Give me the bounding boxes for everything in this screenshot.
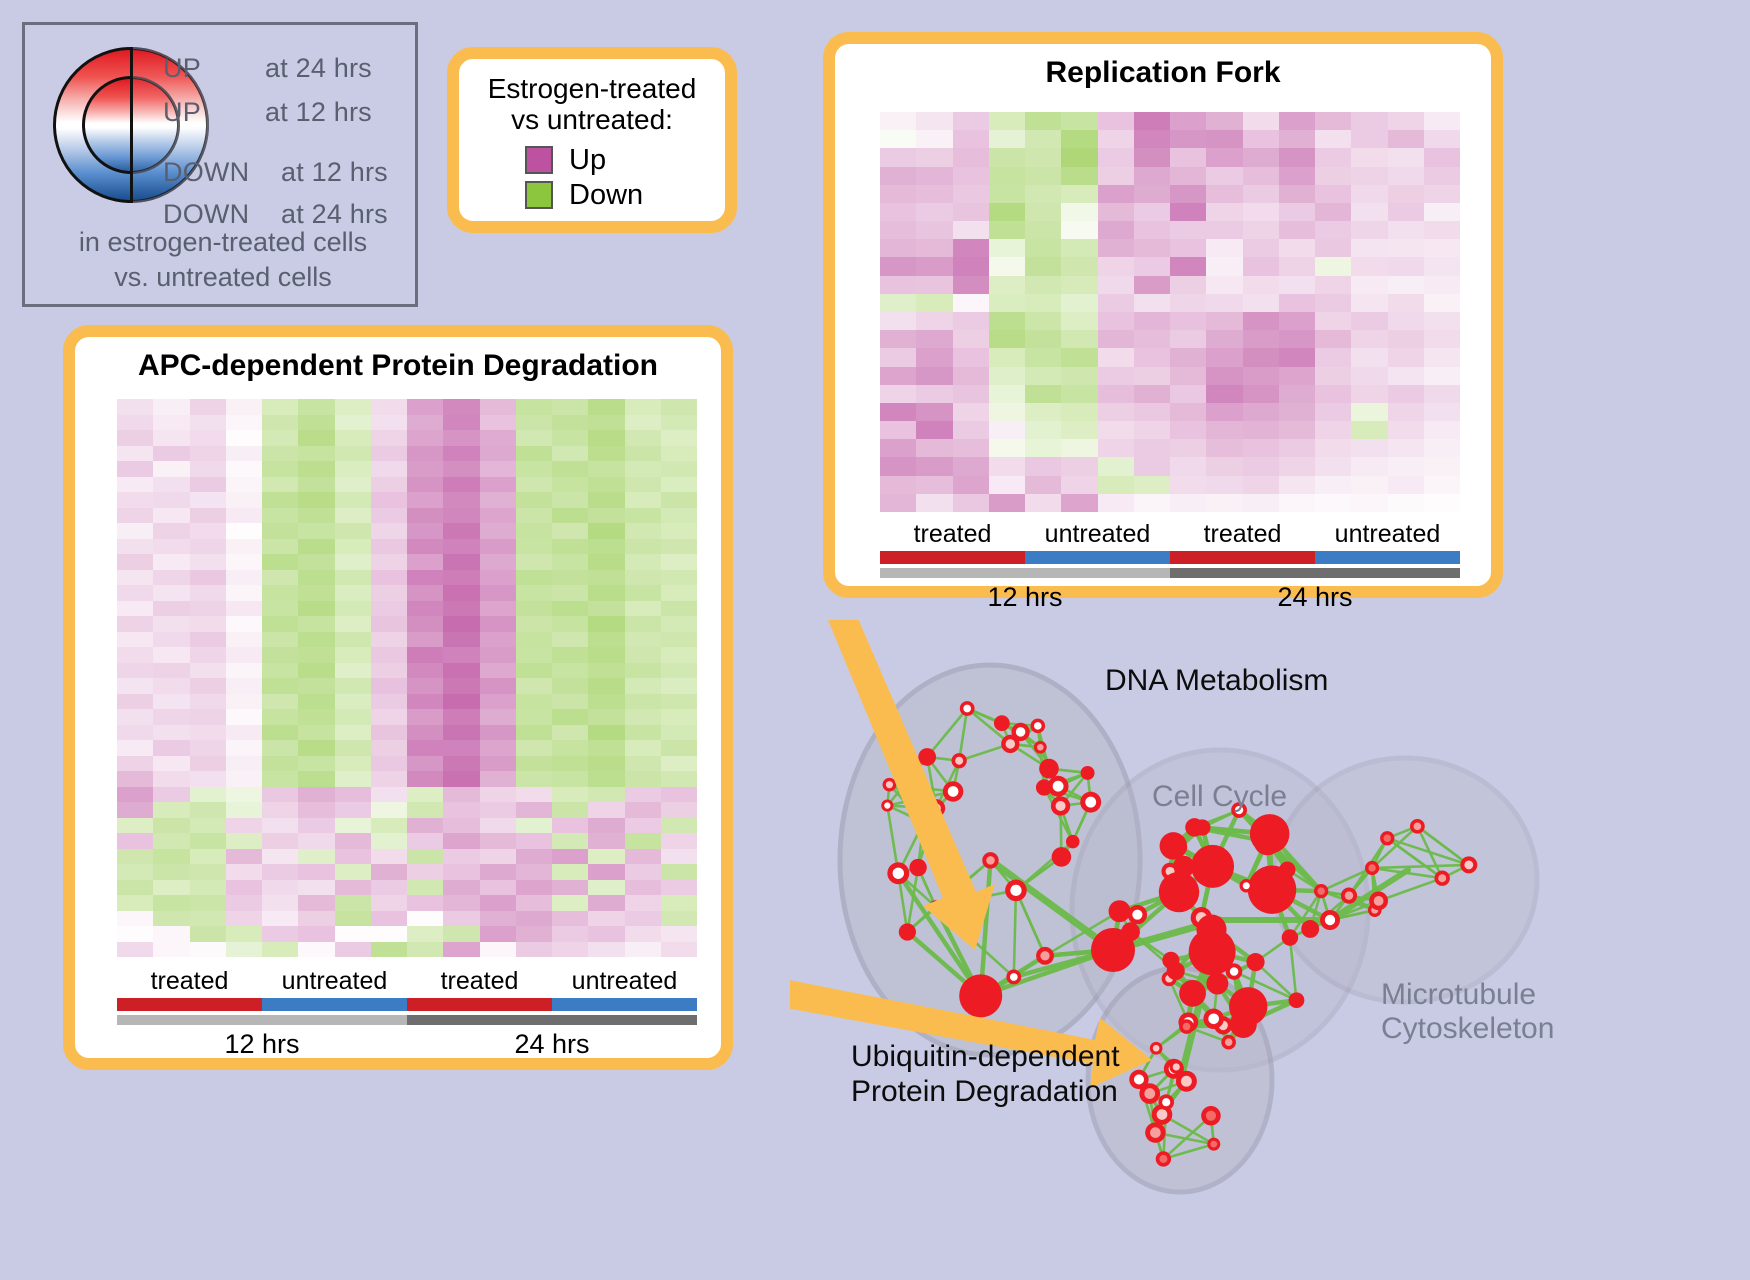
legend-items: Up Down: [459, 144, 725, 212]
network-node[interactable]: [994, 715, 1010, 731]
apc-condition-bar: [117, 998, 697, 1011]
condition-label: treated: [1170, 520, 1315, 549]
network-node[interactable]: [881, 799, 893, 811]
condition-label: treated: [880, 520, 1025, 549]
network-node[interactable]: [1254, 828, 1282, 856]
network-node[interactable]: [1314, 884, 1328, 898]
color-key-footer: in estrogen-treated cells vs. untreated …: [25, 225, 421, 294]
up-swatch-icon: [525, 146, 553, 174]
condition-bar-treated: [1170, 551, 1315, 564]
network-node[interactable]: [1150, 1042, 1163, 1055]
network-node[interactable]: [1246, 953, 1264, 971]
replication-fork-conditions: treated untreated treated untreated: [880, 520, 1460, 549]
network-node[interactable]: [1156, 1151, 1171, 1166]
legend-item-up: Up: [525, 144, 725, 177]
cluster-label-dna-metabolism: DNA Metabolism: [1105, 664, 1328, 698]
replication-fork-panel: Replication Fork treated untreated treat…: [823, 32, 1503, 598]
legend-title-line1: Estrogen-treated: [459, 73, 725, 104]
network-node[interactable]: [1048, 776, 1069, 797]
timepoint-label: 24 hrs: [1170, 582, 1460, 613]
legend-panel: Estrogen-treated vs untreated: Up Down: [447, 47, 737, 233]
network-node[interactable]: [1005, 880, 1027, 902]
legend-title-line2: vs untreated:: [459, 104, 725, 135]
network-node[interactable]: [1189, 928, 1236, 975]
condition-bar-untreated: [262, 998, 407, 1011]
condition-bar-untreated: [552, 998, 697, 1011]
condition-label: untreated: [552, 967, 697, 996]
network-node[interactable]: [1380, 831, 1394, 845]
network-node[interactable]: [1167, 962, 1185, 980]
network-node[interactable]: [1221, 1035, 1236, 1050]
network-node[interactable]: [1034, 741, 1047, 754]
cluster-label-cell-cycle: Cell Cycle: [1152, 780, 1287, 814]
apc-timepoints: 12 hrs 24 hrs: [117, 1029, 697, 1060]
network-node[interactable]: [1365, 861, 1379, 875]
cluster-label-ubiquitin-protein-degradation: Ubiquitin-dependent Protein Degradation: [851, 1040, 1120, 1110]
key-time-up-12: at 12 hrs: [265, 97, 372, 128]
network-node[interactable]: [1160, 832, 1188, 860]
network-node[interactable]: [1282, 929, 1299, 946]
network-node[interactable]: [1341, 888, 1357, 904]
network-node[interactable]: [1091, 928, 1135, 972]
network-node[interactable]: [1239, 879, 1253, 893]
legend-title: Estrogen-treated vs untreated:: [459, 59, 725, 136]
apc-heatmap: [117, 399, 697, 957]
timepoint-bar-24hrs: [407, 1015, 697, 1025]
apc-panel: APC-dependent Protein Degradation treate…: [63, 325, 733, 1070]
replication-fork-axis: treated untreated treated untreated 12 h…: [880, 520, 1460, 613]
key-label-down-12: DOWN: [163, 157, 249, 188]
network-node[interactable]: [1201, 1106, 1221, 1126]
network-node[interactable]: [1036, 947, 1054, 965]
network-node[interactable]: [1301, 920, 1319, 938]
cluster-label-microtubule-line1: Microtubule: [1381, 978, 1554, 1012]
network-node[interactable]: [1460, 856, 1477, 873]
timepoint-bar-24hrs: [1170, 568, 1460, 578]
apc-title: APC-dependent Protein Degradation: [75, 337, 721, 383]
network-node[interactable]: [1289, 992, 1305, 1008]
network-node[interactable]: [1006, 970, 1021, 985]
network-node[interactable]: [1039, 759, 1059, 779]
network-node[interactable]: [1410, 819, 1425, 834]
network-node[interactable]: [960, 701, 975, 716]
network-node[interactable]: [1176, 1071, 1197, 1092]
key-label-up-24: UP: [163, 53, 201, 84]
legend-item-up-label: Up: [569, 144, 606, 177]
key-label-up-12: UP: [163, 97, 201, 128]
network-node[interactable]: [943, 781, 964, 802]
color-key-footer-line1: in estrogen-treated cells: [25, 225, 421, 260]
network-node[interactable]: [899, 923, 916, 940]
key-time-down-12: at 12 hrs: [281, 157, 388, 188]
cluster-label-microtubule-line2: Cytoskeleton: [1381, 1012, 1554, 1046]
network-node[interactable]: [1230, 1011, 1257, 1038]
condition-bar-untreated: [1025, 551, 1170, 564]
network-node[interactable]: [1320, 910, 1340, 930]
condition-bar-treated: [407, 998, 552, 1011]
condition-label: treated: [407, 967, 552, 996]
key-time-up-24: at 24 hrs: [265, 53, 372, 84]
condition-bar-untreated: [1315, 551, 1460, 564]
apc-timepoint-bar: [117, 1015, 697, 1025]
network-node[interactable]: [1128, 905, 1147, 924]
apc-conditions: treated untreated treated untreated: [117, 967, 697, 996]
network-node[interactable]: [1129, 1070, 1148, 1089]
network-node[interactable]: [952, 753, 967, 768]
network-node[interactable]: [909, 859, 926, 876]
color-key-footer-line2: vs. untreated cells: [25, 260, 421, 295]
color-key-box: UP at 24 hrs UP at 12 hrs DOWN at 12 hrs…: [22, 22, 418, 307]
condition-label: untreated: [1025, 520, 1170, 549]
network-node[interactable]: [1109, 900, 1131, 922]
network-node[interactable]: [1185, 818, 1203, 836]
network-node[interactable]: [1203, 1009, 1223, 1029]
cluster-label-microtubule-cytoskeleton: Microtubule Cytoskeleton: [1381, 978, 1554, 1045]
legend-item-down-label: Down: [569, 179, 643, 212]
network-node[interactable]: [1066, 835, 1080, 849]
timepoint-label: 12 hrs: [880, 582, 1170, 613]
network-node[interactable]: [982, 852, 998, 868]
timepoint-bar-12hrs: [880, 568, 1170, 578]
condition-label: treated: [117, 967, 262, 996]
network-node[interactable]: [1145, 1122, 1165, 1142]
condition-label: untreated: [1315, 520, 1460, 549]
timepoint-bar-12hrs: [117, 1015, 407, 1025]
network-node[interactable]: [959, 974, 1002, 1017]
network-node[interactable]: [1435, 870, 1450, 885]
network-node[interactable]: [1080, 792, 1101, 813]
timepoint-label: 12 hrs: [117, 1029, 407, 1060]
condition-bar-treated: [117, 998, 262, 1011]
network-diagram: [790, 620, 1750, 1280]
network-node[interactable]: [887, 862, 909, 884]
cluster-label-ubiquitin-line2: Protein Degradation: [851, 1075, 1120, 1110]
legend-item-down: Down: [525, 179, 725, 212]
replication-fork-condition-bar: [880, 551, 1460, 564]
apc-axis: treated untreated treated untreated 12 h…: [117, 967, 697, 1060]
network-node[interactable]: [1206, 973, 1228, 995]
replication-fork-timepoint-bar: [880, 568, 1460, 578]
network-node[interactable]: [1052, 847, 1072, 867]
condition-bar-treated: [880, 551, 1025, 564]
condition-label: untreated: [262, 967, 407, 996]
network-node[interactable]: [1081, 766, 1095, 780]
network-node[interactable]: [1369, 891, 1388, 910]
network-node[interactable]: [1051, 796, 1070, 815]
network-node[interactable]: [1031, 719, 1046, 734]
ring-divider: [130, 47, 133, 203]
replication-fork-timepoints: 12 hrs 24 hrs: [880, 582, 1460, 613]
network-node[interactable]: [1179, 980, 1206, 1007]
network-node[interactable]: [1159, 872, 1199, 912]
cluster-label-ubiquitin-line1: Ubiquitin-dependent: [851, 1040, 1120, 1075]
network-node[interactable]: [1248, 865, 1296, 913]
network-node[interactable]: [1001, 735, 1019, 753]
timepoint-label: 24 hrs: [407, 1029, 697, 1060]
replication-fork-title: Replication Fork: [835, 44, 1491, 90]
network-node[interactable]: [1158, 1094, 1174, 1110]
network-node[interactable]: [1191, 845, 1234, 888]
network-node[interactable]: [1207, 1138, 1220, 1151]
network-node[interactable]: [1179, 1019, 1194, 1034]
down-swatch-icon: [525, 181, 553, 209]
network-node[interactable]: [918, 748, 936, 766]
network-node[interactable]: [1169, 1060, 1183, 1074]
replication-fork-heatmap: [880, 112, 1460, 512]
